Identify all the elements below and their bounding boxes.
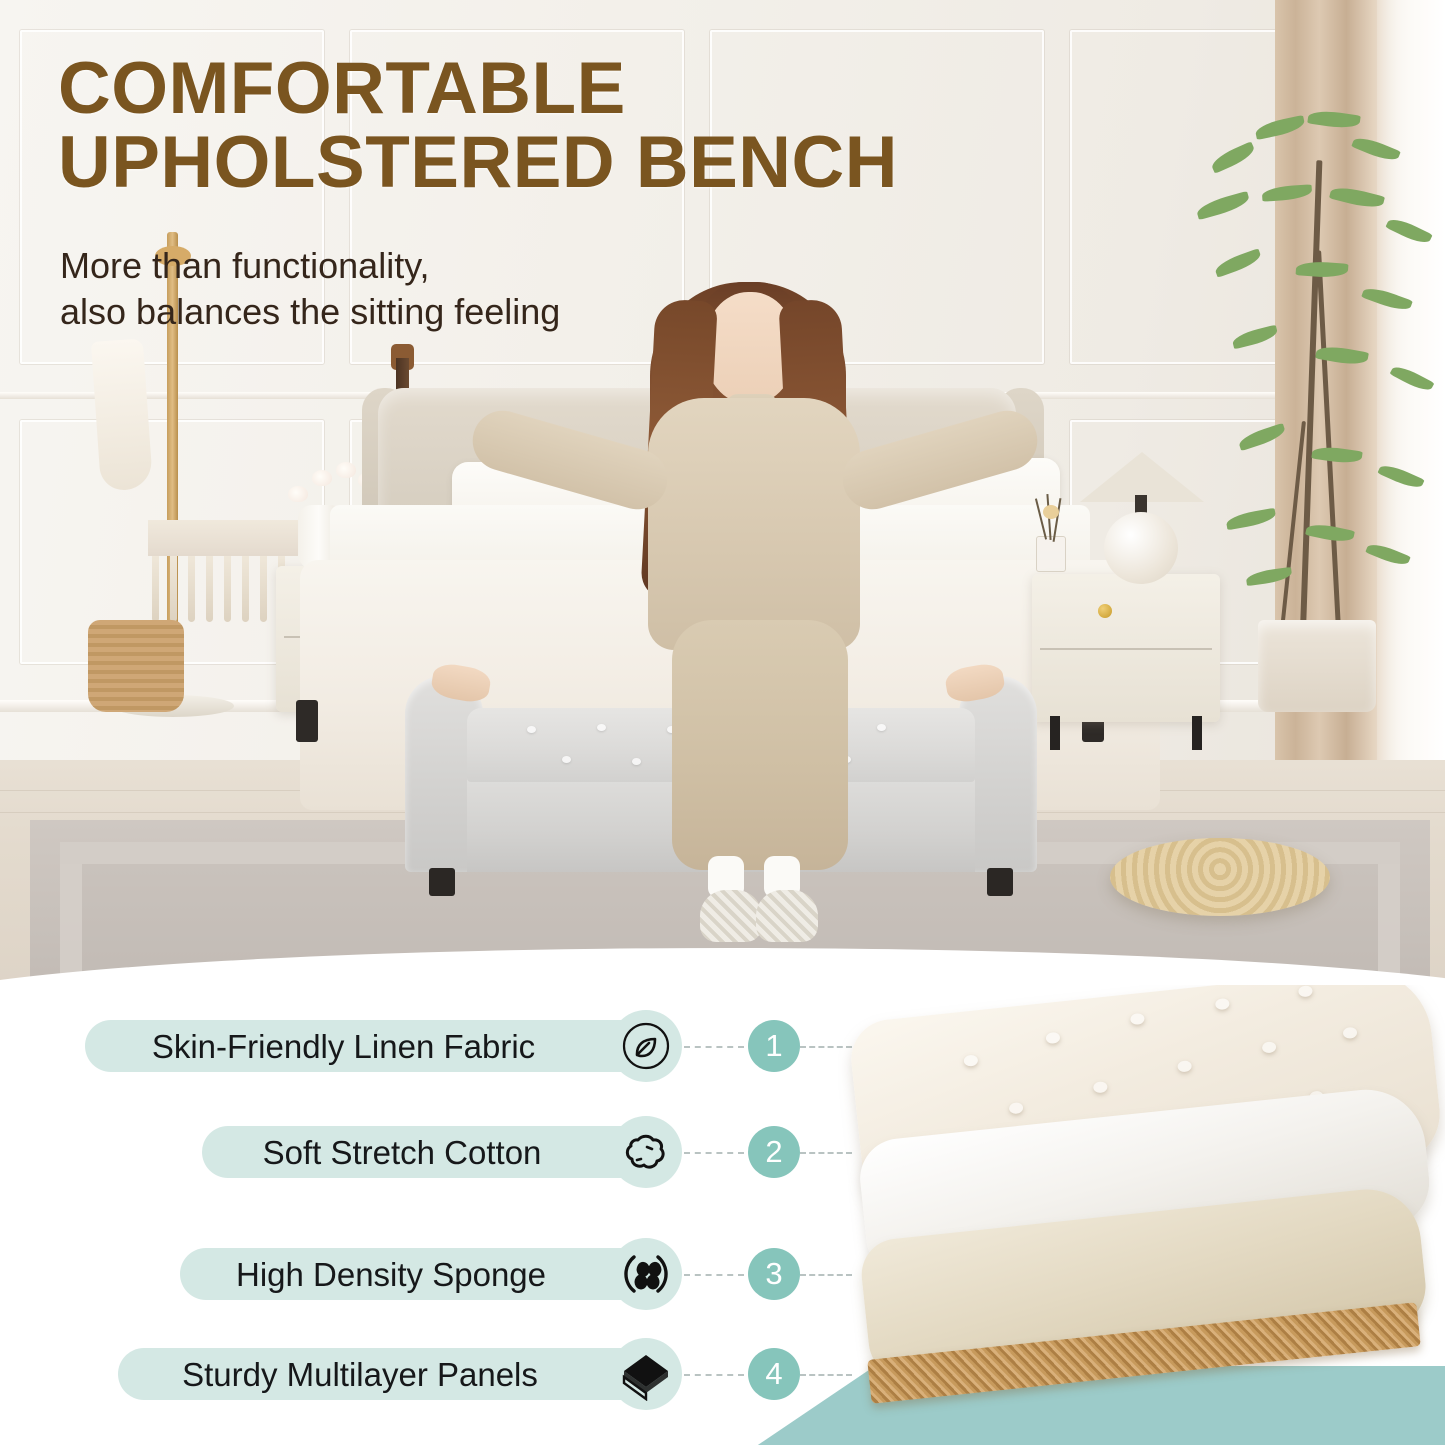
feature-number-2: 2: [748, 1126, 800, 1178]
cotton-boll-icon: [610, 1116, 682, 1188]
headline-line-2: UPHOLSTERED BENCH: [58, 126, 1058, 200]
model-sweater: [648, 398, 860, 650]
throw-cloth: [91, 338, 153, 491]
slipper: [700, 890, 762, 942]
feature-number-1: 1: [748, 1020, 800, 1072]
wall-panel: [1070, 30, 1294, 364]
sponge-pores-icon: [610, 1238, 682, 1310]
slipper: [756, 890, 818, 942]
plant-pot: [1258, 620, 1376, 712]
feature-label-2: Soft Stretch Cotton: [263, 1136, 542, 1169]
sheer-curtain: [1377, 0, 1445, 800]
subtitle-line-2: also balances the sitting feeling: [60, 289, 780, 335]
drawer-knob: [1098, 604, 1112, 618]
layer-stack-diagram: [838, 985, 1445, 1445]
feature-list: Skin-Friendly Linen Fabric 1 Soft Stretc…: [0, 1000, 900, 1430]
subtitle: More than functionality, also balances t…: [60, 243, 780, 335]
feature-label-1: Skin-Friendly Linen Fabric: [152, 1030, 535, 1063]
panel-board-icon: [610, 1338, 682, 1410]
headline-line-1: COMFORTABLE: [58, 52, 1058, 126]
woven-basket: [88, 620, 184, 712]
leaf-icon: [610, 1010, 682, 1082]
feature-number-4: 4: [748, 1348, 800, 1400]
subtitle-line-1: More than functionality,: [60, 243, 780, 289]
feature-label-3: High Density Sponge: [236, 1258, 546, 1291]
feature-label-4: Sturdy Multilayer Panels: [182, 1358, 538, 1391]
page-title: COMFORTABLE UPHOLSTERED BENCH: [58, 52, 1058, 201]
model-pants: [672, 620, 848, 870]
straw-pouf: [1110, 838, 1330, 916]
feature-number-3: 3: [748, 1248, 800, 1300]
product-infographic: COMFORTABLE UPHOLSTERED BENCH More than …: [0, 0, 1445, 1445]
